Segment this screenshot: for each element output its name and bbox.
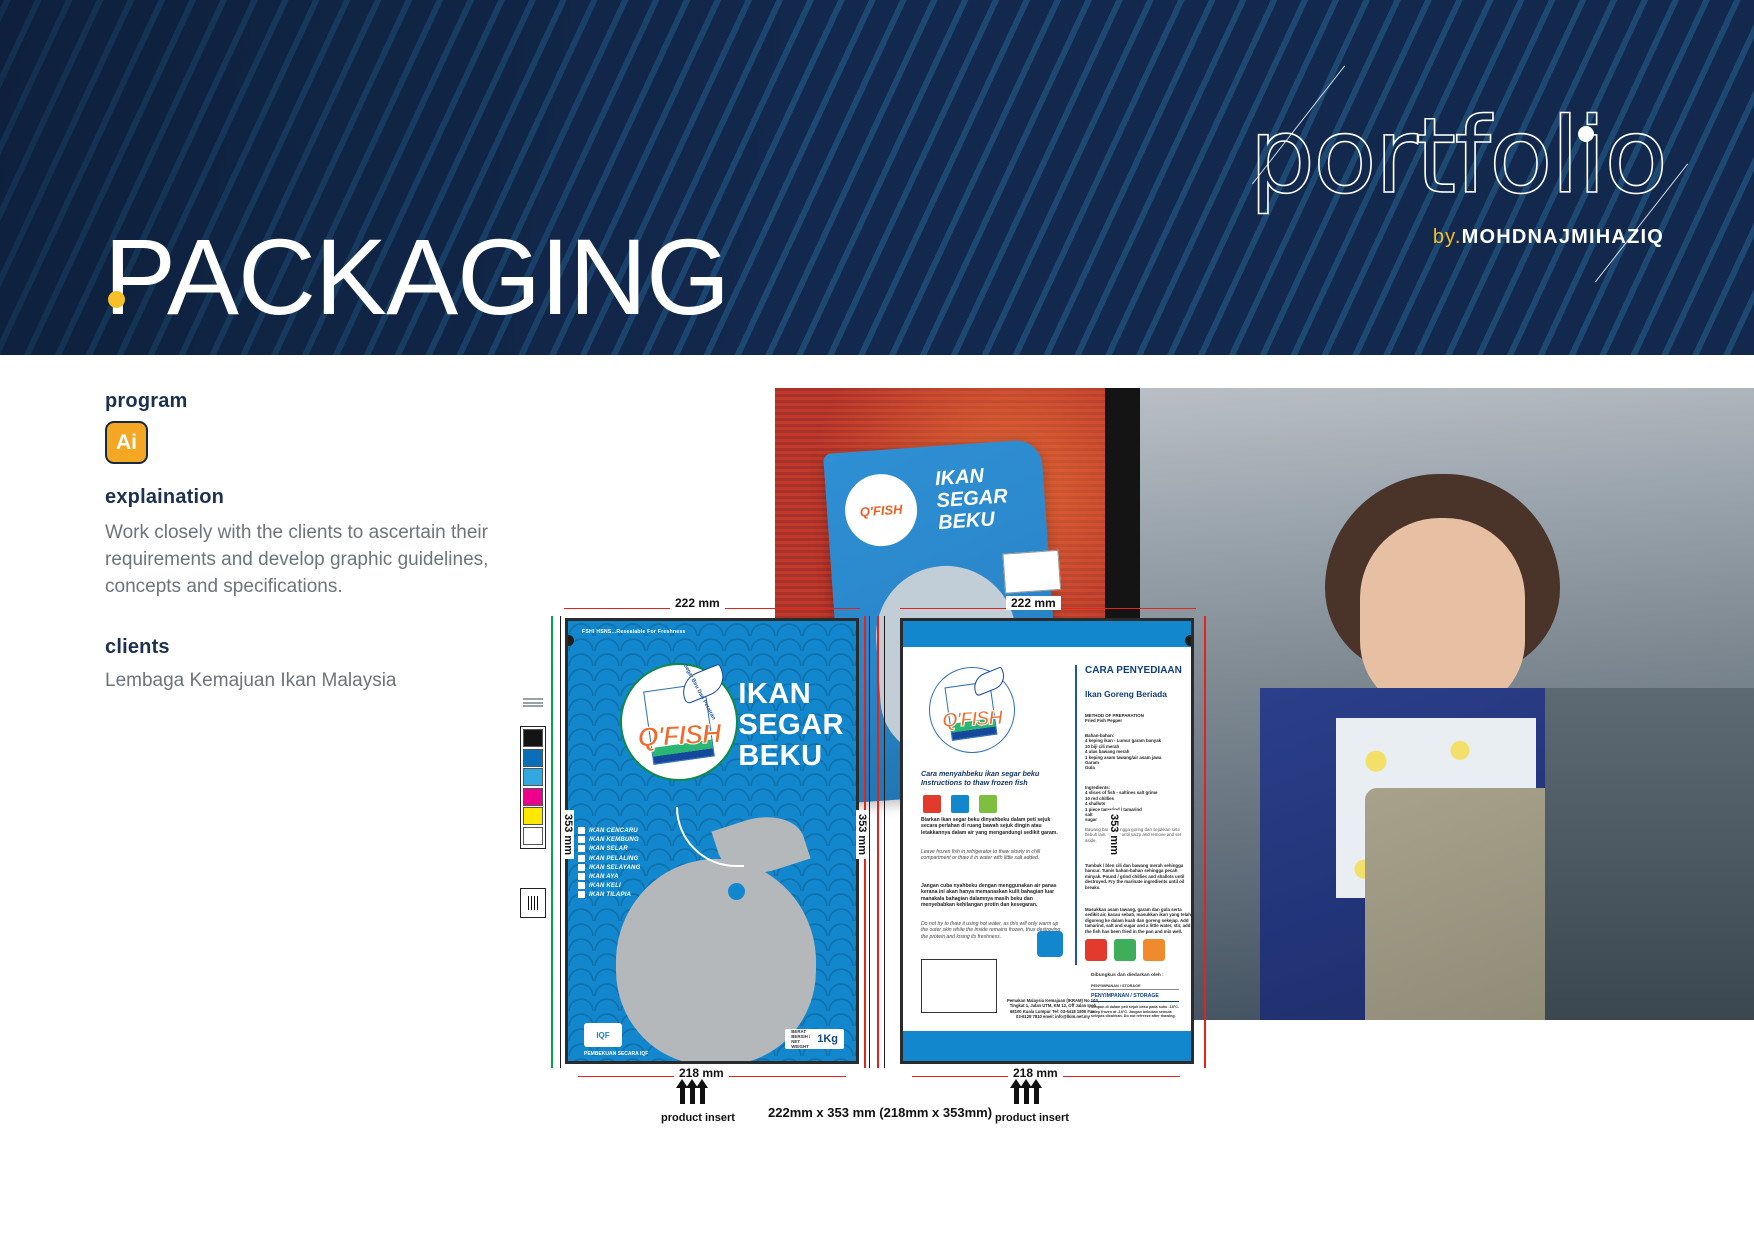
iqf-badge: IQF (584, 1023, 622, 1047)
species-checkbox-icon (578, 873, 585, 880)
project-info-column: program Ai explaination Work closely wit… (105, 390, 525, 694)
thaw-icon-water (951, 795, 969, 813)
trim-guide-front-right (869, 616, 870, 1068)
front-panel-artwork: FSHI HSNS...Resealable For Freshness Q'F… (565, 618, 859, 1064)
front-headline-line-3: BEKU (738, 741, 844, 772)
dimension-label-back-222: 222 mm (1006, 596, 1061, 610)
print-mark (523, 698, 543, 700)
cmyk-color-swatch-strip (520, 726, 546, 849)
logo-byline: by.MOHDNAJMIHAZIQ (1433, 226, 1664, 249)
explanation-label: explaination (105, 486, 525, 509)
species-checkbox-icon (578, 864, 585, 871)
registration-bar (531, 896, 533, 910)
species-checklist-item: IKAN PELALING (578, 855, 698, 862)
logo-byline-prefix: by. (1433, 226, 1462, 248)
recipe-method-en: Fried Fish Pepper (1085, 718, 1193, 723)
dimension-label-front-353: 353 mm (562, 810, 574, 859)
artwork-showcase: Q'FISH IKAN SEGAR BEKU FSHI HSNS...Resea… (520, 380, 1754, 1120)
held-package-price-tag (1002, 550, 1061, 594)
net-weight-badge: BERAT BERSIH / NET WEIGHT 1Kg (785, 1029, 844, 1049)
page-title: PACKAGING (104, 225, 729, 329)
ingredient-item: Gula (1085, 765, 1193, 770)
recipe-title: CARA PENYEDIAAN (1085, 665, 1191, 677)
thaw-paragraph-en-1: Leave frozen fish in refrigerator to tha… (921, 849, 1063, 862)
color-swatch (523, 827, 543, 845)
portfolio-logo: portfolio by.MOHDNAJMIHAZIQ (1236, 86, 1666, 256)
recipe-step-3: Masukkan asam tawang, garam dan gula ser… (1085, 907, 1193, 934)
logo-dot-icon (1578, 126, 1594, 142)
species-checkbox-icon (578, 836, 585, 843)
species-label: IKAN TILAPIA (589, 891, 631, 898)
net-weight-note: BERAT BERSIH / NET WEIGHT (791, 1029, 813, 1049)
header-banner: portfolio by.MOHDNAJMIHAZIQ PACKAGING (0, 0, 1754, 355)
ingredient-item: sugar (1085, 817, 1193, 822)
illustrator-app-icon: Ai (105, 421, 148, 464)
species-checkbox-icon (578, 845, 585, 852)
species-checklist-item: IKAN SELAR (578, 845, 698, 852)
storage-heading-small: PENYIMPANAN / STORAGE (1091, 984, 1179, 990)
program-label: program (105, 390, 525, 413)
thaw-title-ms: Cara menyahbeku ikan segar beku (921, 769, 1061, 778)
product-insert-label-front: product insert (661, 1112, 735, 1124)
photo-crowd (1545, 688, 1754, 1020)
bleed-guide-red-back-right (1204, 616, 1206, 1068)
clients-label: clients (105, 636, 525, 659)
front-headline: IKAN SEGAR BEKU (738, 679, 844, 772)
species-label: IKAN KELI (589, 882, 621, 889)
trim-guide-left (560, 616, 561, 1068)
bleed-guide-green-left (551, 616, 553, 1068)
net-weight-value: 1Kg (817, 1033, 838, 1045)
dimension-label-front-353-right: 353 mm (856, 810, 868, 859)
storage-info-block: PENYIMPANAN / STORAGE PENYIMPANAN / STOR… (1091, 984, 1179, 1019)
logo-byline-name: MOHDNAJMIHAZIQ (1462, 226, 1664, 248)
species-checkbox-icon (578, 855, 585, 862)
back-tear-notch-icon (1185, 635, 1194, 646)
color-swatch (523, 749, 543, 767)
recipe-ingredients-ms: Bahan-bahan:4 keping ikan - Lumur garam … (1085, 733, 1193, 771)
species-label: IKAN PELALING (589, 855, 638, 862)
species-label: IKAN SELAYANG (589, 864, 641, 871)
product-insert-label-back: product insert (995, 1112, 1069, 1124)
print-mark (523, 702, 543, 704)
qfish-brand-logo: Q'FISH Segar Biru Dari Perairan (620, 663, 738, 781)
species-checkbox-icon (578, 882, 585, 889)
species-checkbox-icon (578, 891, 585, 898)
explanation-text: Work closely with the clients to ascerta… (105, 519, 525, 600)
lkim-logo-icon (1037, 931, 1063, 957)
portfolio-page: portfolio by.MOHDNAJMIHAZIQ PACKAGING pr… (0, 0, 1754, 1241)
back-logo-wordmark: Q'FISH (942, 707, 1003, 733)
registration-bar (537, 896, 539, 910)
color-swatch (523, 729, 543, 747)
recipe-method-heading: METHOD OF PREPARATION Fried Fish Pepper (1085, 713, 1193, 724)
species-checklist-item: IKAN KEMBUNG (578, 836, 698, 843)
dimension-label-back-353: 353 mm (1108, 810, 1120, 859)
distributed-by-label: Dibungkus dan diedarkan oleh : (1091, 973, 1164, 978)
fish-illustration-eye (728, 883, 745, 900)
thaw-icon-fridge (923, 795, 941, 813)
cook-icon-plate (1143, 939, 1165, 961)
distributor-address: Pemakan Malaysia Kemajuan (IKRAM) No.103… (1007, 998, 1099, 1019)
recipe-ingredients-en: Ingredients:4 slices of fish - saltines … (1085, 785, 1193, 823)
recipe-step-2: Tumbuk / blen cili dan bawang merah sehi… (1085, 863, 1193, 890)
recipe-step-1: Bawang baru sehingga goring dan sejukkan… (1085, 827, 1193, 843)
barcode-registration-block (520, 888, 546, 918)
presenter-face (1360, 518, 1525, 713)
front-headline-line-2: SEGAR (738, 710, 844, 741)
thaw-instructions-title: Cara menyahbeku ikan segar beku Instruct… (921, 769, 1061, 787)
back-bottom-band (903, 1031, 1191, 1061)
qfish-logo-wordmark: Q'FISH (637, 718, 721, 753)
barcode-placeholder-box (921, 959, 997, 1013)
held-package-headline: IKAN SEGAR BEKU (934, 462, 1034, 535)
registration-bar (528, 896, 530, 910)
species-label: IKAN CENCARU (589, 827, 638, 834)
thaw-icon-fish (979, 795, 997, 813)
print-registration-marks (523, 698, 543, 722)
thaw-paragraph-ms-2: Jangan cuba nyahbeku dengan menggunakan … (921, 883, 1063, 909)
trim-guide-back-left (884, 616, 885, 1068)
dimension-label-front-222: 222 mm (670, 596, 725, 610)
illustrator-app-icon-text: Ai (116, 431, 137, 455)
thaw-step-icons (923, 793, 1063, 815)
species-label: IKAN SELAR (589, 845, 628, 852)
back-panel-artwork: Q'FISH Cara menyahbeku ikan segar beku I… (900, 618, 1194, 1064)
portfolio-logo-text: portfolio (1236, 104, 1666, 214)
dimension-label-back-218: 218 mm (1008, 1066, 1063, 1080)
bleed-guide-red-back-left (877, 616, 879, 1068)
overall-spec-label: 222mm x 353 mm (218mm x 353mm) (768, 1105, 992, 1120)
thaw-title-en: Instructions to thaw frozen fish (921, 778, 1061, 787)
title-dot-icon (108, 291, 125, 308)
color-swatch (523, 788, 543, 806)
registration-bar (534, 896, 536, 910)
dimension-label-front-218: 218 mm (674, 1066, 729, 1080)
thaw-paragraph-ms-1: Biarkan ikan segar beku dinyahbeku dalam… (921, 817, 1063, 836)
cook-icon-pan (1114, 939, 1136, 961)
client-name: Lembaga Kemajuan Ikan Malaysia (105, 667, 525, 694)
iqf-caption: PEMBEKUAN SECARA IQF (584, 1051, 648, 1057)
species-label: IKAN AYA (589, 873, 619, 880)
color-swatch (523, 768, 543, 786)
cooking-step-icons (1085, 939, 1193, 965)
storage-title: PENYIMPANAN / STORAGE (1091, 993, 1179, 1002)
clients-block: clients Lembaga Kemajuan Ikan Malaysia (105, 636, 525, 694)
recipe-subtitle: Ikan Goreng Beriada (1085, 689, 1191, 699)
back-top-band (903, 621, 1191, 647)
species-checkbox-icon (578, 827, 585, 834)
front-top-note: FSHI HSNS...Resealable For Freshness (582, 629, 686, 635)
cook-icon-chilli (1085, 939, 1107, 961)
color-swatch (523, 807, 543, 825)
front-headline-line-1: IKAN (738, 679, 844, 710)
recipe-divider (1075, 665, 1077, 965)
storage-body: Simpan di dalam peti sejuk beku pada suh… (1091, 1005, 1179, 1019)
print-mark (523, 705, 543, 707)
species-label: IKAN KEMBUNG (589, 836, 639, 843)
back-qfish-logo: Q'FISH (929, 667, 1015, 753)
held-package-logo: Q'FISH (843, 472, 920, 549)
